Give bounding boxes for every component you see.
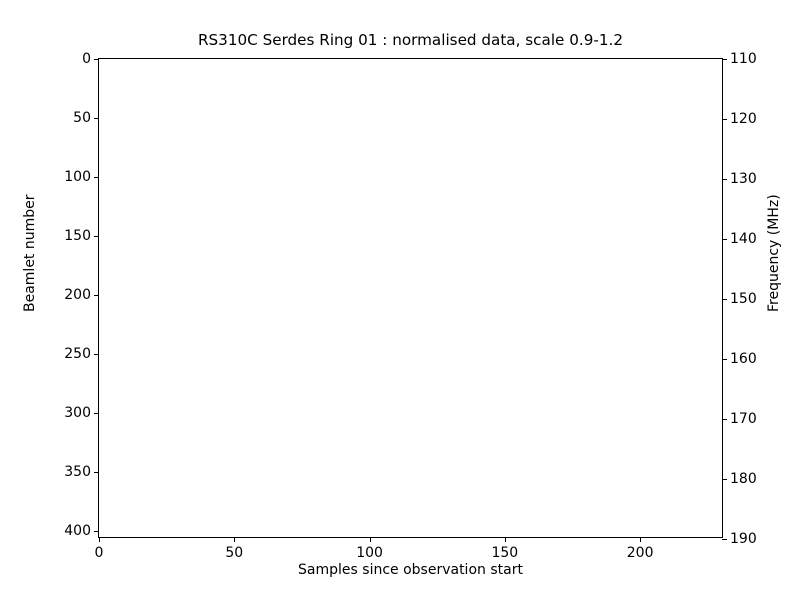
x-axis-tick: [234, 537, 235, 542]
x-axis-tick-label: 200: [627, 546, 654, 560]
y-axis-right-label: Frequency (MHz): [767, 194, 781, 312]
y-axis-left-tick: [94, 295, 99, 296]
y-axis-right-tick: [722, 119, 727, 120]
x-axis-tick: [505, 537, 506, 542]
x-axis-tick: [370, 537, 371, 542]
y-axis-left-tick-label: 350: [64, 465, 91, 479]
y-axis-right-tick-label: 170: [730, 412, 757, 426]
y-axis-left-label: Beamlet number: [23, 194, 37, 312]
y-axis-right-tick-label: 120: [730, 112, 757, 126]
x-axis-tick-label: 150: [491, 546, 518, 560]
y-axis-right-tick: [722, 59, 727, 60]
y-axis-left-tick-label: 300: [64, 406, 91, 420]
page-title: RS310C Serdes Ring 01 : normalised data,…: [11, 31, 800, 49]
x-axis-tick-label: 100: [356, 546, 383, 560]
y-axis-right-tick: [722, 419, 727, 420]
y-axis-right-tick: [722, 479, 727, 480]
y-axis-right-tick-label: 180: [730, 472, 757, 486]
y-axis-right-tick: [722, 299, 727, 300]
y-axis-left-tick-label: 50: [73, 111, 91, 125]
figure-canvas: RS310C Serdes Ring 01 : normalised data,…: [0, 0, 800, 600]
x-axis-tick: [99, 537, 100, 542]
y-axis-left-tick: [94, 472, 99, 473]
y-axis-left-tick: [94, 59, 99, 60]
x-axis-tick-label: 50: [225, 546, 243, 560]
y-axis-left-tick: [94, 354, 99, 355]
y-axis-right-tick-label: 190: [730, 532, 757, 546]
y-axis-left-tick-label: 100: [64, 170, 91, 184]
y-axis-left-tick: [94, 413, 99, 414]
y-axis-right-tick-label: 140: [730, 232, 757, 246]
y-axis-left-tick-label: 0: [82, 52, 91, 66]
y-axis-left-tick: [94, 531, 99, 532]
y-axis-left-tick-label: 150: [64, 229, 91, 243]
x-axis-tick-label: 0: [95, 546, 104, 560]
x-axis-tick: [640, 537, 641, 542]
y-axis-left-tick-label: 200: [64, 288, 91, 302]
y-axis-left-tick: [94, 177, 99, 178]
plot-data-canvas: [99, 59, 722, 537]
x-axis-label: Samples since observation start: [98, 563, 723, 577]
y-axis-right-tick-label: 150: [730, 292, 757, 306]
y-axis-right-tick-label: 130: [730, 172, 757, 186]
plot-area: 050100150200250300350400 110120130140150…: [98, 58, 723, 538]
y-axis-right-tick: [722, 179, 727, 180]
y-axis-left-tick-label: 400: [64, 524, 91, 538]
y-axis-right-tick: [722, 539, 727, 540]
y-axis-right-tick-label: 110: [730, 52, 757, 66]
y-axis-right-tick: [722, 239, 727, 240]
y-axis-right-tick-label: 160: [730, 352, 757, 366]
y-axis-left-tick-label: 250: [64, 347, 91, 361]
y-axis-left-tick: [94, 236, 99, 237]
y-axis-left-tick: [94, 118, 99, 119]
y-axis-right-tick: [722, 359, 727, 360]
